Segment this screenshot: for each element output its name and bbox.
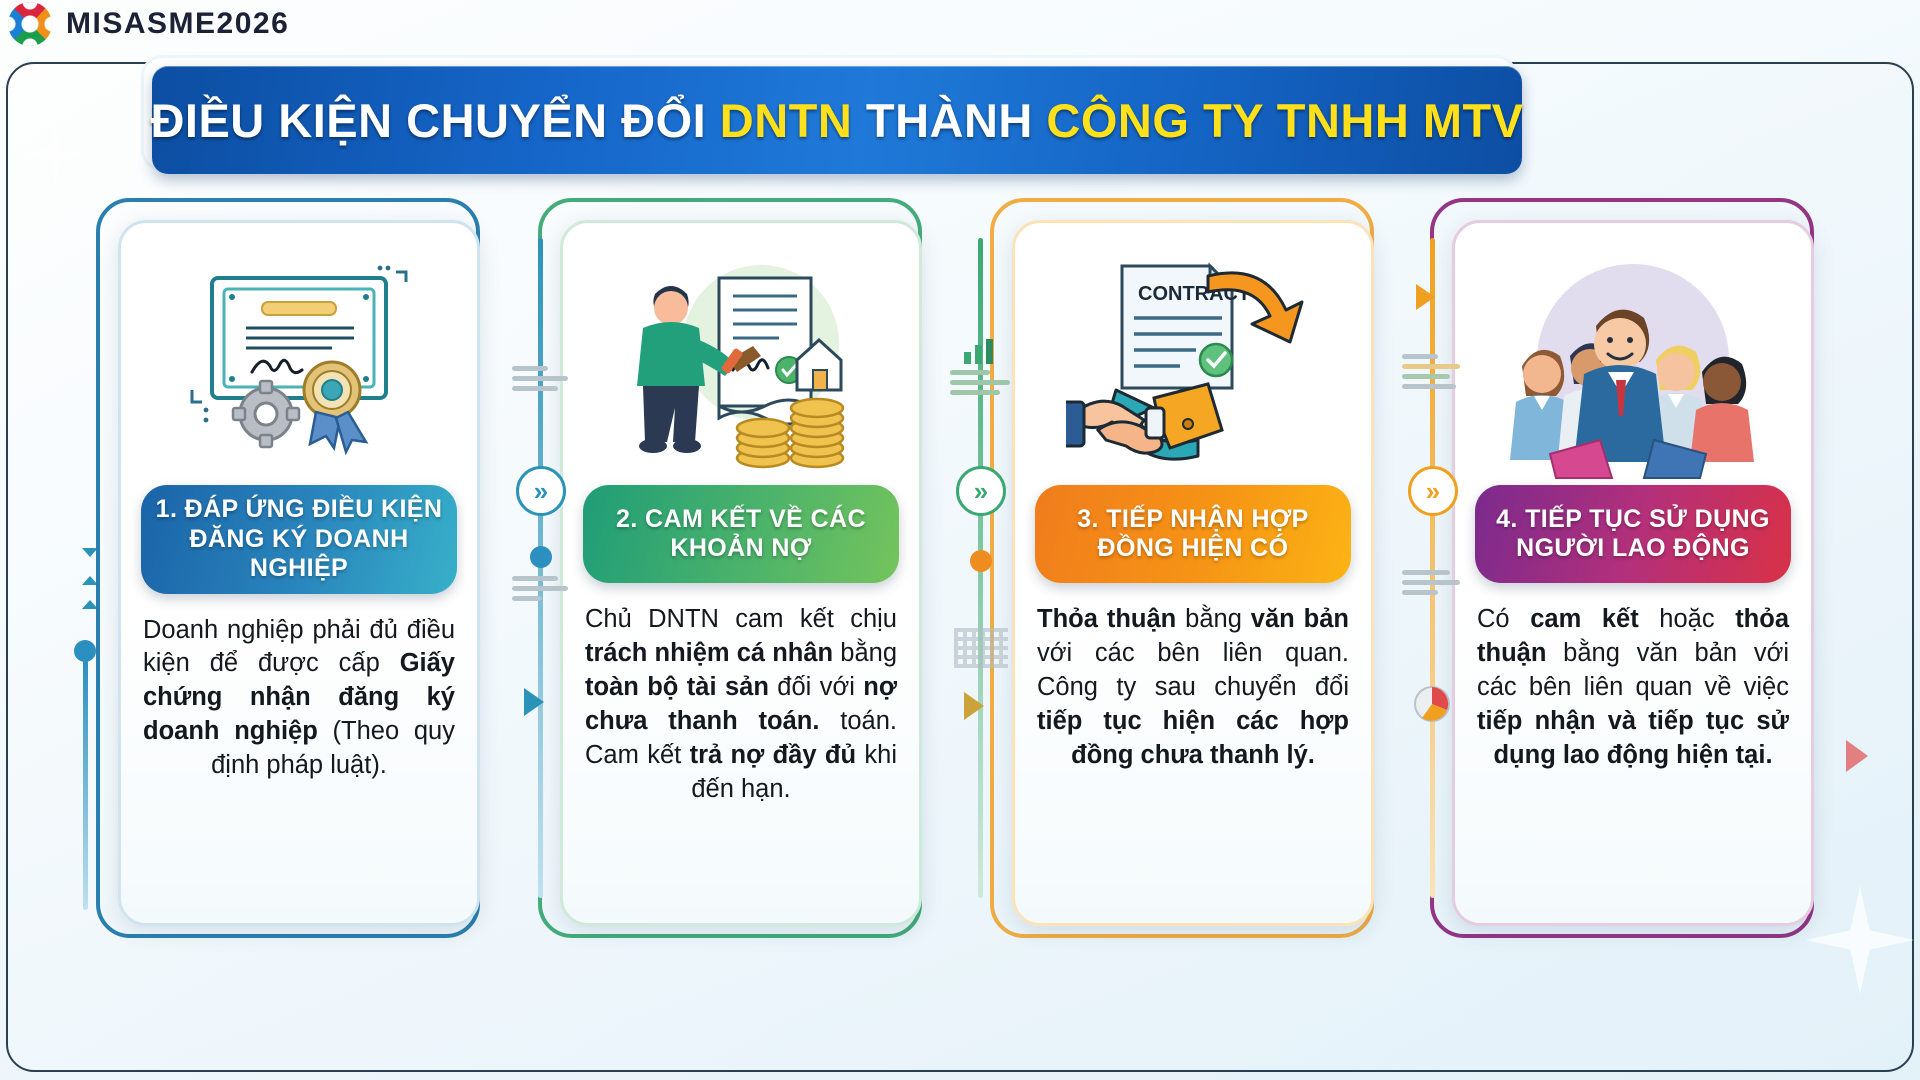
- body-text-normal: hoặc: [1639, 605, 1735, 633]
- body-text-bold: tiếp nhận và tiếp tục sử dụng lao động h…: [1477, 707, 1789, 769]
- certificate-gear-ribbon-icon: [174, 250, 424, 480]
- page-title-banner: ĐIỀU KIỆN CHUYỂN ĐỔI DNTN THÀNH CÔNG TY …: [152, 66, 1522, 174]
- connector-1-2: »: [480, 198, 600, 938]
- card-slot-2: 2. CAM KẾT VỀ CÁC KHOẢN NỢ Chủ DNTN cam …: [560, 198, 922, 938]
- play-arrow-icon: [1846, 740, 1868, 772]
- page-title-part2: THÀNH: [852, 94, 1046, 147]
- page-title-highlight1: DNTN: [720, 94, 853, 147]
- person-signing-document-coins-icon: [611, 248, 871, 483]
- body-text-normal: với các bên liên quan. Công ty sau chuyể…: [1037, 639, 1349, 701]
- connector-line: [1430, 238, 1435, 898]
- page-title: ĐIỀU KIỆN CHUYỂN ĐỔI DNTN THÀNH CÔNG TY …: [150, 93, 1523, 148]
- card-1-illustration: [121, 223, 477, 493]
- card-slot-1: 1. ĐÁP ỨNG ĐIỀU KIỆN ĐĂNG KÝ DOANH NGHIỆ…: [118, 198, 480, 938]
- card-3-body: Thỏa thuận bằng văn bản với các bên liên…: [1037, 603, 1349, 773]
- body-text-bold: Thỏa thuận: [1037, 605, 1176, 633]
- connector-dot: [970, 550, 992, 572]
- mini-bars-decor: [950, 370, 1010, 395]
- card-4[interactable]: 4. TIẾP TỤC SỬ DỤNG NGƯỜI LAO ĐỘNG Có ca…: [1452, 220, 1814, 926]
- dot-grid-decor: [954, 628, 1008, 668]
- card-3-title: 3. TIẾP NHẬN HỢP ĐỒNG HIỆN CÓ: [1035, 485, 1351, 583]
- page-title-highlight2: CÔNG TY TNHH MTV: [1046, 94, 1523, 147]
- play-arrow-icon: [964, 692, 984, 720]
- connector-3-4: »: [1372, 198, 1492, 938]
- card-1[interactable]: 1. ĐÁP ỨNG ĐIỀU KIỆN ĐĂNG KÝ DOANH NGHIỆ…: [118, 220, 480, 926]
- card-2[interactable]: 2. CAM KẾT VỀ CÁC KHOẢN NỢ Chủ DNTN cam …: [560, 220, 922, 926]
- body-text-normal: Chủ DNTN cam kết chịu: [585, 605, 897, 633]
- card-slot-3: CONTRACT: [1012, 198, 1374, 938]
- connector-dot: [530, 546, 552, 568]
- card-4-illustration: [1455, 223, 1811, 493]
- mini-lines-decor: [512, 366, 568, 391]
- connector-line: [538, 238, 543, 898]
- connector-2-3: »: [920, 198, 1040, 938]
- card-2-title: 2. CAM KẾT VỀ CÁC KHOẢN NỢ: [583, 485, 899, 583]
- card-1-title: 1. ĐÁP ỨNG ĐIỀU KIỆN ĐĂNG KÝ DOANH NGHIỆ…: [141, 485, 457, 594]
- brand-name: MISASME2026: [66, 7, 289, 41]
- card-2-body: Chủ DNTN cam kết chịu trách nhiệm cá nhâ…: [585, 603, 897, 806]
- card-slot-4: 4. TIẾP TỤC SỬ DỤNG NGƯỜI LAO ĐỘNG Có ca…: [1452, 198, 1814, 938]
- body-text-bold: văn bản: [1251, 605, 1349, 633]
- card-4-body: Có cam kết hoặc thỏa thuận bằng văn bản …: [1477, 603, 1789, 773]
- body-text-normal: bằng: [833, 639, 897, 667]
- connector-chevron-icon: »: [1408, 466, 1458, 516]
- mini-lines-decor: [512, 576, 568, 601]
- page-title-part1: ĐIỀU KIỆN CHUYỂN ĐỔI: [150, 94, 719, 147]
- mini-lines-decor: [1402, 354, 1462, 389]
- body-text-bold: trách nhiệm cá nhân: [585, 639, 833, 667]
- body-text-bold: cam kết: [1530, 605, 1639, 633]
- connector-chevron-icon: »: [956, 466, 1006, 516]
- mini-lines-decor: [1402, 570, 1462, 595]
- card-3-illustration: CONTRACT: [1015, 223, 1371, 493]
- body-text-bold: tiếp tục hiện các hợp đồng chưa thanh lý…: [1037, 707, 1349, 769]
- card-4-title: 4. TIẾP TỤC SỬ DỤNG NGƯỜI LAO ĐỘNG: [1475, 485, 1791, 583]
- card-2-illustration: [563, 223, 919, 493]
- connector-chevron-icon: »: [516, 466, 566, 516]
- body-text-bold: toàn bộ tài sản: [585, 673, 769, 701]
- body-text-normal: đối với: [769, 673, 863, 701]
- brand-header: MISASME2026: [8, 2, 289, 46]
- card-1-body: Doanh nghiệp phải đủ điều kiện để được c…: [143, 614, 455, 784]
- sparkle-star-icon: [20, 120, 90, 190]
- handshake-contract-arrows-icon: CONTRACT: [1066, 248, 1321, 483]
- body-text-bold: trả nợ đầy đủ: [690, 741, 856, 769]
- pie-chart-icon: [1412, 684, 1452, 724]
- misa-circle-logo-icon: [8, 2, 52, 46]
- play-arrow-icon: [1416, 284, 1435, 310]
- team-of-employees-icon: [1498, 248, 1768, 483]
- bar-chart-icon: [962, 338, 996, 364]
- body-text-normal: bằng: [1176, 605, 1251, 633]
- card-3[interactable]: CONTRACT: [1012, 220, 1374, 926]
- title-banner-wrap: ĐIỀU KIỆN CHUYỂN ĐỔI DNTN THÀNH CÔNG TY …: [152, 66, 1522, 176]
- play-arrow-icon: [524, 688, 544, 716]
